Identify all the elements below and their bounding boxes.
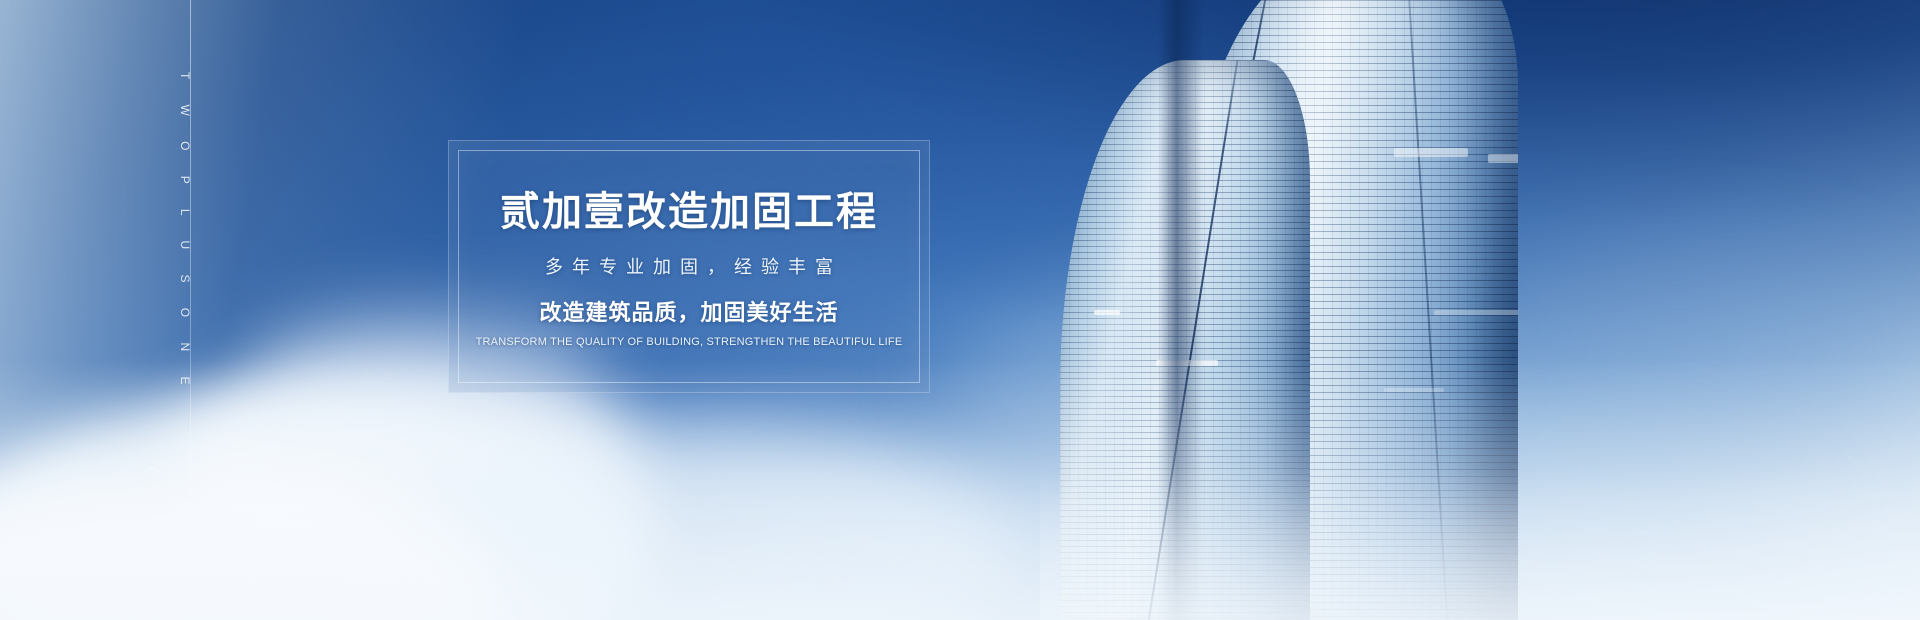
vertical-brand-mark: 1 xyxy=(146,466,156,474)
hero-banner: T W O P L U S O N E 1 贰加壹改造加固工程 多年专业加固，经… xyxy=(0,0,1920,620)
banner-slogan: 改造建筑品质，加固美好生活 xyxy=(539,302,838,324)
window-glint xyxy=(1094,310,1120,315)
vertical-brand-text: T W O P L U S O N E xyxy=(178,72,192,395)
tower-mullions xyxy=(1060,60,1310,620)
window-glint xyxy=(1384,388,1444,392)
headline-frame-box: 贰加壹改造加固工程 多年专业加固，经验丰富 改造建筑品质，加固美好生活 TRAN… xyxy=(448,140,930,393)
banner-headline: 贰加壹改造加固工程 xyxy=(500,192,878,232)
tower-front-building xyxy=(1060,60,1310,620)
headline-content: 贰加壹改造加固工程 多年专业加固，经验丰富 改造建筑品质，加固美好生活 TRAN… xyxy=(449,141,929,392)
window-glint xyxy=(1156,360,1218,366)
window-glint xyxy=(1434,310,1518,315)
window-glint xyxy=(1488,154,1518,163)
banner-slogan-english: TRANSFORM THE QUALITY OF BUILDING, STREN… xyxy=(476,337,903,348)
window-glint xyxy=(1394,148,1468,157)
skyscraper-group xyxy=(1040,0,1920,620)
banner-subheadline: 多年专业加固，经验丰富 xyxy=(536,258,842,276)
